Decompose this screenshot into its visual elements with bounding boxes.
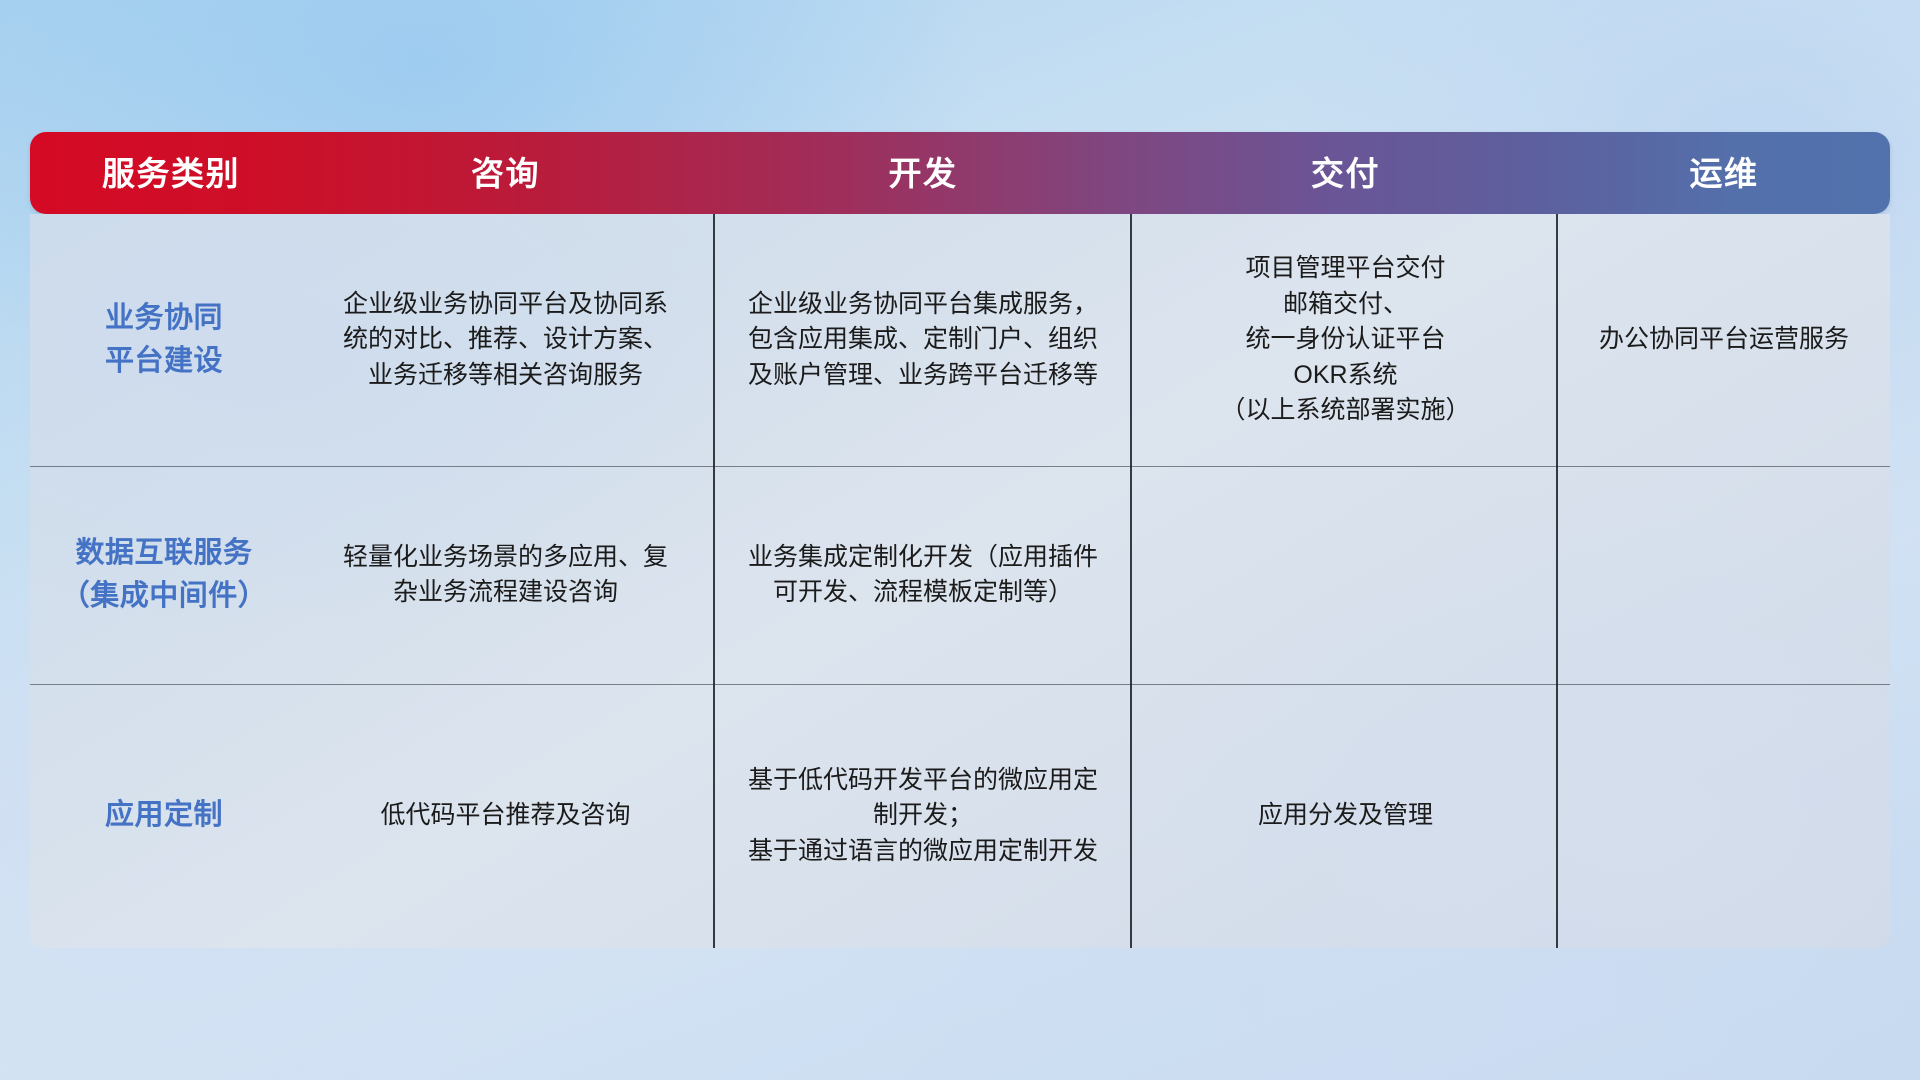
column-divider (1130, 214, 1132, 948)
cell-delivery: 项目管理平台交付 邮箱交付、 统一身份认证平台 OKR系统 （以上系统部署实施） (1133, 214, 1558, 466)
cell-development: 基于低代码开发平台的微应用定 制开发； 基于通过语言的微应用定制开发 (713, 684, 1133, 948)
table-header-row: 服务类别 咨询 开发 交付 运维 (30, 132, 1890, 214)
cell-development: 业务集成定制化开发（应用插件 可开发、流程模板定制等） (713, 466, 1133, 684)
table-row: 应用定制 低代码平台推荐及咨询 基于低代码开发平台的微应用定 制开发； 基于通过… (30, 684, 1890, 948)
column-header-service-category: 服务类别 (30, 157, 298, 190)
row-category-label: 数据互联服务 （集成中间件） (30, 466, 298, 684)
column-header-operations: 运维 (1558, 157, 1890, 190)
cell-development: 企业级业务协同平台集成服务， 包含应用集成、定制门户、组织 及账户管理、业务跨平… (713, 214, 1133, 466)
cell-operations: 办公协同平台运营服务 (1558, 214, 1890, 466)
column-header-consulting: 咨询 (298, 157, 713, 190)
cell-delivery (1133, 466, 1558, 684)
cell-operations (1558, 684, 1890, 948)
column-header-delivery: 交付 (1133, 157, 1558, 190)
column-divider (713, 214, 715, 948)
column-header-development: 开发 (713, 157, 1133, 190)
cell-consulting: 轻量化业务场景的多应用、复 杂业务流程建设咨询 (298, 466, 713, 684)
table-body: 业务协同 平台建设 企业级业务协同平台及协同系 统的对比、推荐、设计方案、 业务… (30, 214, 1890, 948)
row-category-label: 业务协同 平台建设 (30, 214, 298, 466)
cell-consulting: 低代码平台推荐及咨询 (298, 684, 713, 948)
cell-delivery: 应用分发及管理 (1133, 684, 1558, 948)
slide-canvas: 服务类别 咨询 开发 交付 运维 业务协同 平台建设 企业级业务协同平台及协同系… (0, 0, 1920, 1080)
row-category-label: 应用定制 (30, 684, 298, 948)
row-divider (30, 684, 1890, 685)
row-divider (30, 466, 1890, 467)
table-row: 数据互联服务 （集成中间件） 轻量化业务场景的多应用、复 杂业务流程建设咨询 业… (30, 466, 1890, 684)
table-row: 业务协同 平台建设 企业级业务协同平台及协同系 统的对比、推荐、设计方案、 业务… (30, 214, 1890, 466)
column-divider (1556, 214, 1558, 948)
cell-operations (1558, 466, 1890, 684)
cell-consulting: 企业级业务协同平台及协同系 统的对比、推荐、设计方案、 业务迁移等相关咨询服务 (298, 214, 713, 466)
